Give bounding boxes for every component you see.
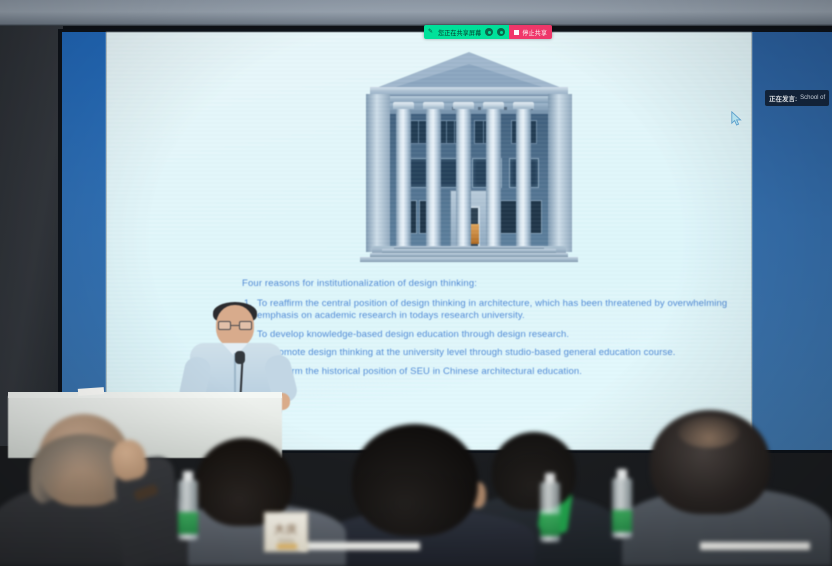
table-name-card: 大庆 Daqing [264, 512, 308, 552]
screen-share-toolbar[interactable]: ✎ 您正在共享屏幕 停止共享 [424, 25, 552, 39]
slide-lead-line: Four reasons for institutionalization of… [242, 278, 752, 289]
column-2 [426, 108, 441, 250]
slide-building-photo [356, 50, 582, 262]
eyeglasses-icon [218, 321, 252, 330]
cornice [370, 87, 568, 96]
list-item: 3. To promote design thinking at the uni… [242, 347, 752, 359]
name-card-accent [277, 544, 297, 549]
column-3 [456, 108, 471, 250]
pediment-tympanum [389, 64, 549, 89]
list-item: 4. To reaffirm the historical position o… [242, 366, 752, 378]
list-text: To develop knowledge-based design educat… [257, 329, 752, 341]
list-text: To reaffirm the historical position of S… [257, 366, 752, 378]
pencil-icon[interactable]: ✎ [427, 29, 434, 36]
audience-head-center [352, 424, 478, 536]
table-paper [700, 542, 810, 550]
side-wall-left [0, 26, 63, 446]
audience-head-center-right [492, 432, 576, 510]
screenshot-root: Four reasons for institutionalization of… [0, 0, 832, 566]
slide-reason-list: 1. To reaffirm the central position of d… [242, 298, 752, 378]
water-bottle [178, 480, 198, 540]
bottle-cap [545, 473, 555, 483]
microphone-icon [235, 351, 245, 364]
water-bottle [540, 482, 560, 542]
foreground-audience [0, 396, 832, 566]
stop-sharing-label: 停止共享 [522, 27, 547, 36]
list-text: To promote design thinking at the univer… [257, 347, 752, 359]
bottle-cap [183, 471, 193, 481]
cursor-icon [731, 111, 742, 126]
column-5 [516, 108, 531, 250]
bottle-cap [617, 469, 627, 479]
pier-right [548, 94, 572, 252]
speaker-tag-name: School of [800, 95, 825, 101]
list-text: To reaffirm the central position of desi… [257, 298, 752, 323]
arrow-cursor [731, 111, 742, 131]
column-1 [396, 108, 411, 250]
bottle-label [178, 512, 198, 534]
stop-square-icon [514, 30, 519, 35]
active-speaker-tag: 正在发言: School of [765, 90, 829, 106]
annotate-icon[interactable] [485, 28, 493, 36]
column-4 [486, 108, 501, 250]
list-item: 1. To reaffirm the central position of d… [242, 298, 752, 323]
list-item: 2. To develop knowledge-based design edu… [242, 329, 752, 341]
share-status-text: 您正在共享屏幕 [438, 27, 481, 36]
bottle-label [612, 510, 632, 532]
settings-icon[interactable] [497, 28, 505, 36]
pier-left [366, 94, 390, 252]
name-card-pinyin: Daqing [278, 538, 294, 544]
speaker-tag-label: 正在发言: [769, 93, 797, 103]
name-card-chinese: 大庆 [274, 521, 298, 537]
bottle-label [540, 514, 560, 536]
audience-scalp-right [678, 416, 740, 448]
slide-text-block: Four reasons for institutionalization of… [242, 278, 752, 384]
share-status-group: ✎ 您正在共享屏幕 [424, 25, 509, 39]
table-paper [300, 542, 420, 550]
water-bottle [612, 478, 632, 538]
entrance-steps [360, 246, 578, 262]
stop-sharing-button[interactable]: 停止共享 [509, 25, 552, 39]
ceiling [0, 0, 832, 26]
